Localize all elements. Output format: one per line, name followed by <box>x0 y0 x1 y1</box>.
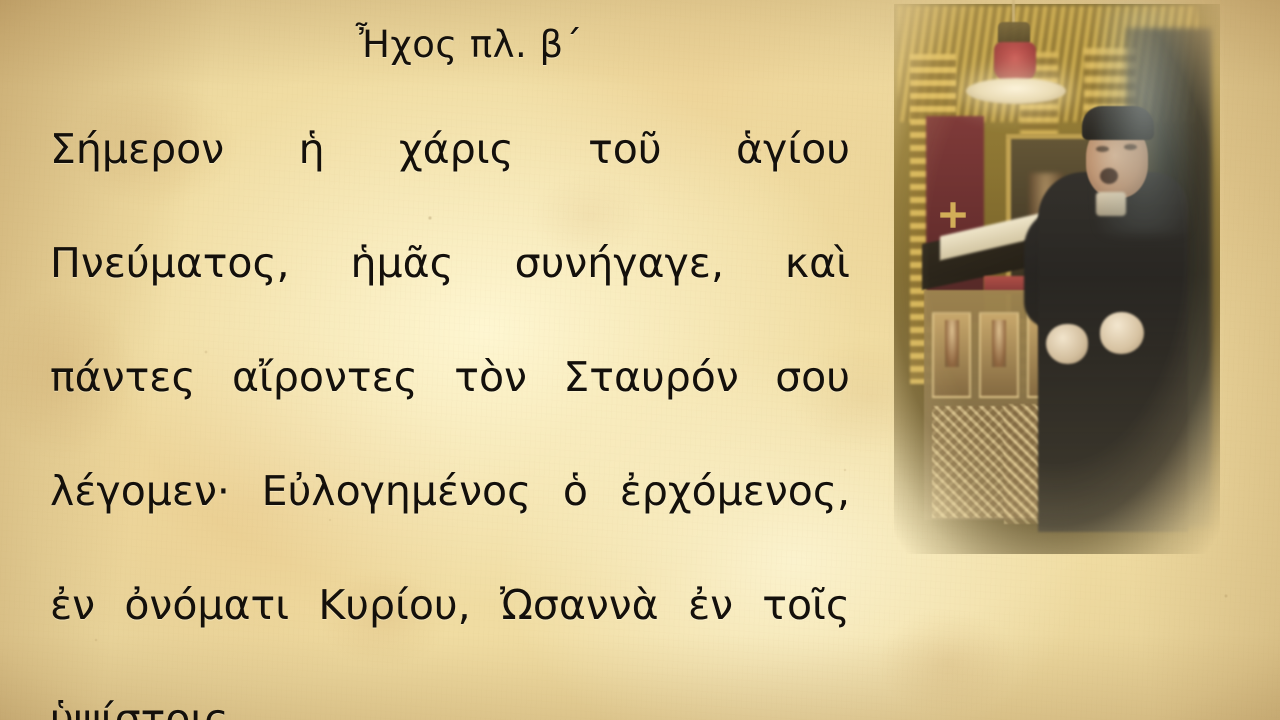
hymn-line: Πνεύματος, ἡμᾶς συνήγαγε, καὶ <box>50 235 850 349</box>
analogion-panel <box>979 312 1018 398</box>
analogion-panel <box>932 312 971 398</box>
lamp-shade <box>966 78 1066 104</box>
hymn-line: Σήμερον ἡ χάρις τοῦ ἁγίου <box>50 121 850 235</box>
chanter-photo-frame <box>888 0 1224 554</box>
chanter-hand-left <box>1046 324 1088 364</box>
slide-canvas: Ἦχος πλ. β΄ Σήμερον ἡ χάρις τοῦ ἁγίου Πν… <box>0 0 1280 720</box>
chanter-hand-right <box>1100 312 1144 354</box>
hymn-line: πάντες αἴροντες τὸν Σταυρόν σου <box>50 349 850 463</box>
lamp-crown <box>998 22 1030 44</box>
lamp-red-glass <box>994 42 1036 82</box>
hymn-text-block: Σήμερον ἡ χάρις τοῦ ἁγίου Πνεύματος, ἡμᾶ… <box>50 121 850 720</box>
hymn-line: λέγομεν· Εὐλογημένος ὁ ἐρχόμενος, <box>50 463 850 577</box>
hymn-line: ἐν ὀνόματι Κυρίου, Ὠσαννὰ ἐν τοῖς <box>50 577 850 691</box>
hymn-text-column: Ἦχος πλ. β΄ Σήμερον ἡ χάρις τοῦ ἁγίου Πν… <box>50 26 850 720</box>
hymn-line: ὑψίστοις. <box>50 691 850 720</box>
mode-title: Ἦχος πλ. β΄ <box>50 26 850 63</box>
chanter-photo <box>888 0 1224 554</box>
incense-haze <box>1098 4 1190 234</box>
